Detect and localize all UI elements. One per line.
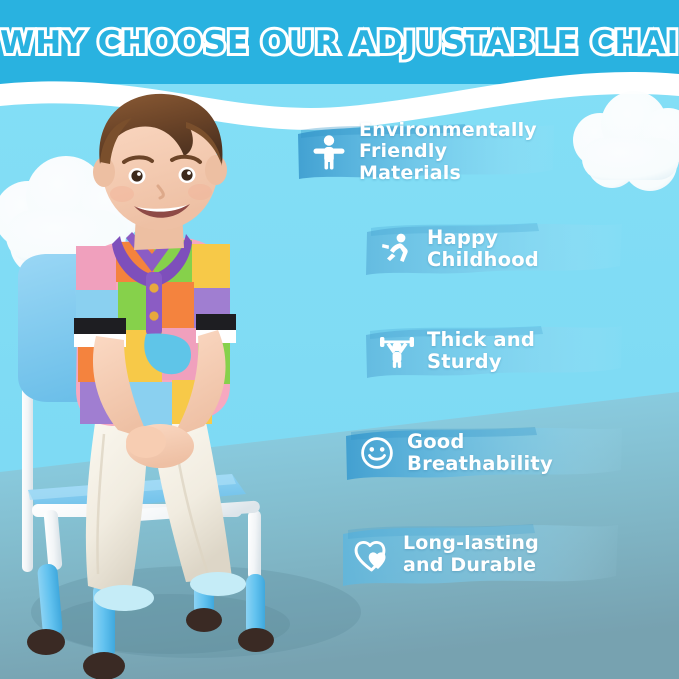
feature-label: Good Breathability <box>407 431 603 475</box>
feature-label: Long-lasting and Durable <box>403 533 539 576</box>
page-title: WHY CHOOSE OUR ADJUSTABLE CHAIR? <box>0 25 679 61</box>
feature-list: Environmentally Friendly Materials Happy… <box>295 112 665 642</box>
header: WHY CHOOSE OUR ADJUSTABLE CHAIR? <box>0 0 679 92</box>
feature-item-good-breathability[interactable]: Good Breathability <box>343 424 625 482</box>
feature-item-happy-childhood[interactable]: Happy Childhood <box>363 220 625 278</box>
person-icon <box>309 132 349 172</box>
double-heart-icon <box>353 535 393 575</box>
feature-label: Happy Childhood <box>427 227 603 271</box>
feature-item-environmentally-friendly[interactable]: Environmentally Friendly Materials <box>295 120 557 184</box>
feature-label: Thick and Sturdy <box>427 329 603 373</box>
feature-item-long-lasting-durable[interactable]: Long-lasting and Durable <box>339 520 621 590</box>
weightlifter-icon <box>377 331 417 371</box>
child-figure <box>74 94 246 611</box>
running-person-icon <box>377 229 417 269</box>
infographic-poster: WHY CHOOSE OUR ADJUSTABLE CHAIR? Environ… <box>0 0 679 679</box>
feature-item-thick-and-sturdy[interactable]: Thick and Sturdy <box>363 322 625 380</box>
smiley-face-icon <box>357 433 397 473</box>
feature-label: Environmentally Friendly Materials <box>359 120 537 185</box>
